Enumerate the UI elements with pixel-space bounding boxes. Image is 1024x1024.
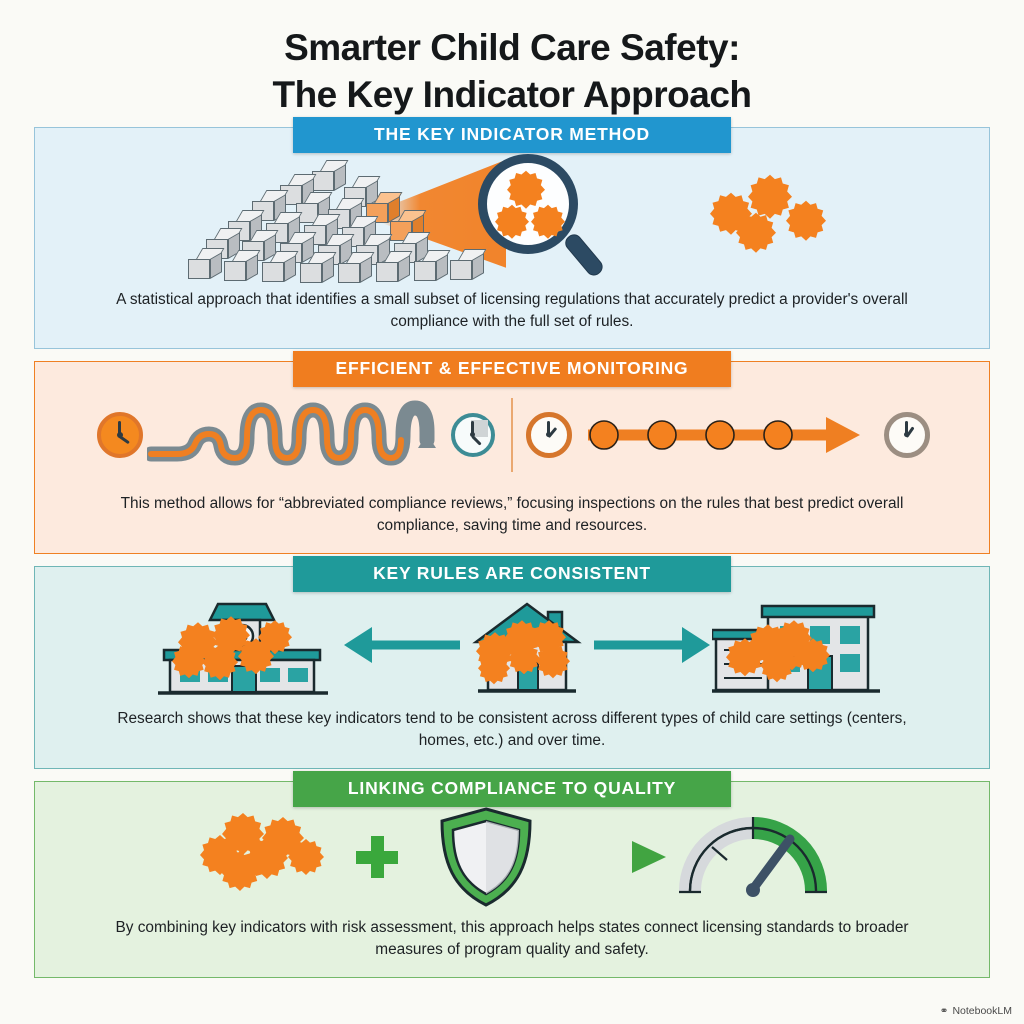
key-indicator-stars-icon: [700, 171, 840, 261]
notebooklm-watermark: ⚭ NotebookLM: [940, 1005, 1012, 1017]
watermark-label: NotebookLM: [952, 1005, 1012, 1017]
clock-gray-icon: [884, 412, 930, 458]
plus-icon: [356, 836, 398, 878]
shield-icon: [434, 805, 538, 909]
section-3-illustration: [35, 586, 989, 704]
section-key-indicator-method: THE KEY INDICATOR METHOD: [34, 127, 990, 350]
clock-teal-icon: [451, 413, 495, 457]
section-key-rules-are-consistent: KEY RULES ARE CONSISTENT: [34, 566, 990, 769]
title-line-1: Smarter Child Care Safety:: [0, 24, 1024, 71]
clock-orange-icon: [97, 412, 143, 458]
arrow-left-icon: [342, 625, 462, 665]
section-linking-compliance-to-quality: LINKING COMPLIANCE TO QUALITY: [34, 781, 990, 978]
notebooklm-logo-icon: ⚭: [940, 1005, 949, 1017]
section-3-caption: Research shows that these key indicators…: [35, 704, 989, 768]
cube-pile-icon: [184, 152, 484, 280]
section-2-caption: This method allows for “abbreviated comp…: [35, 489, 989, 553]
arrow-right-icon: [592, 625, 712, 665]
section-1-illustration: [35, 147, 989, 285]
title-line-2: The Key Indicator Approach: [0, 71, 1024, 118]
section-efficient-effective-monitoring: EFFICIENT & EFFECTIVE MONITORING: [34, 361, 990, 554]
section-4-illustration: [35, 801, 989, 913]
child-care-center-icon: [142, 590, 342, 700]
home-daycare-icon: [462, 590, 592, 700]
multi-story-center-icon: [712, 590, 882, 700]
arrow-right-icon: [548, 840, 668, 874]
clock-orange-icon: [526, 412, 572, 458]
magnifier-lens: [478, 154, 578, 254]
section-4-caption: By combining key indicators with risk as…: [35, 913, 989, 977]
magnifier-handle: [562, 231, 606, 279]
section-2-illustration: [35, 381, 989, 489]
page-title: Smarter Child Care Safety: The Key Indic…: [0, 0, 1024, 127]
section-1-caption: A statistical approach that identifies a…: [35, 285, 989, 349]
magnifier-icon: [470, 150, 620, 282]
key-indicator-stars-icon: [196, 809, 356, 905]
direct-arrow-icon: [578, 407, 878, 463]
winding-path-icon: [147, 392, 447, 478]
quality-gauge-icon: [678, 811, 828, 903]
infographic-page: Smarter Child Care Safety: The Key Indic…: [0, 0, 1024, 1024]
